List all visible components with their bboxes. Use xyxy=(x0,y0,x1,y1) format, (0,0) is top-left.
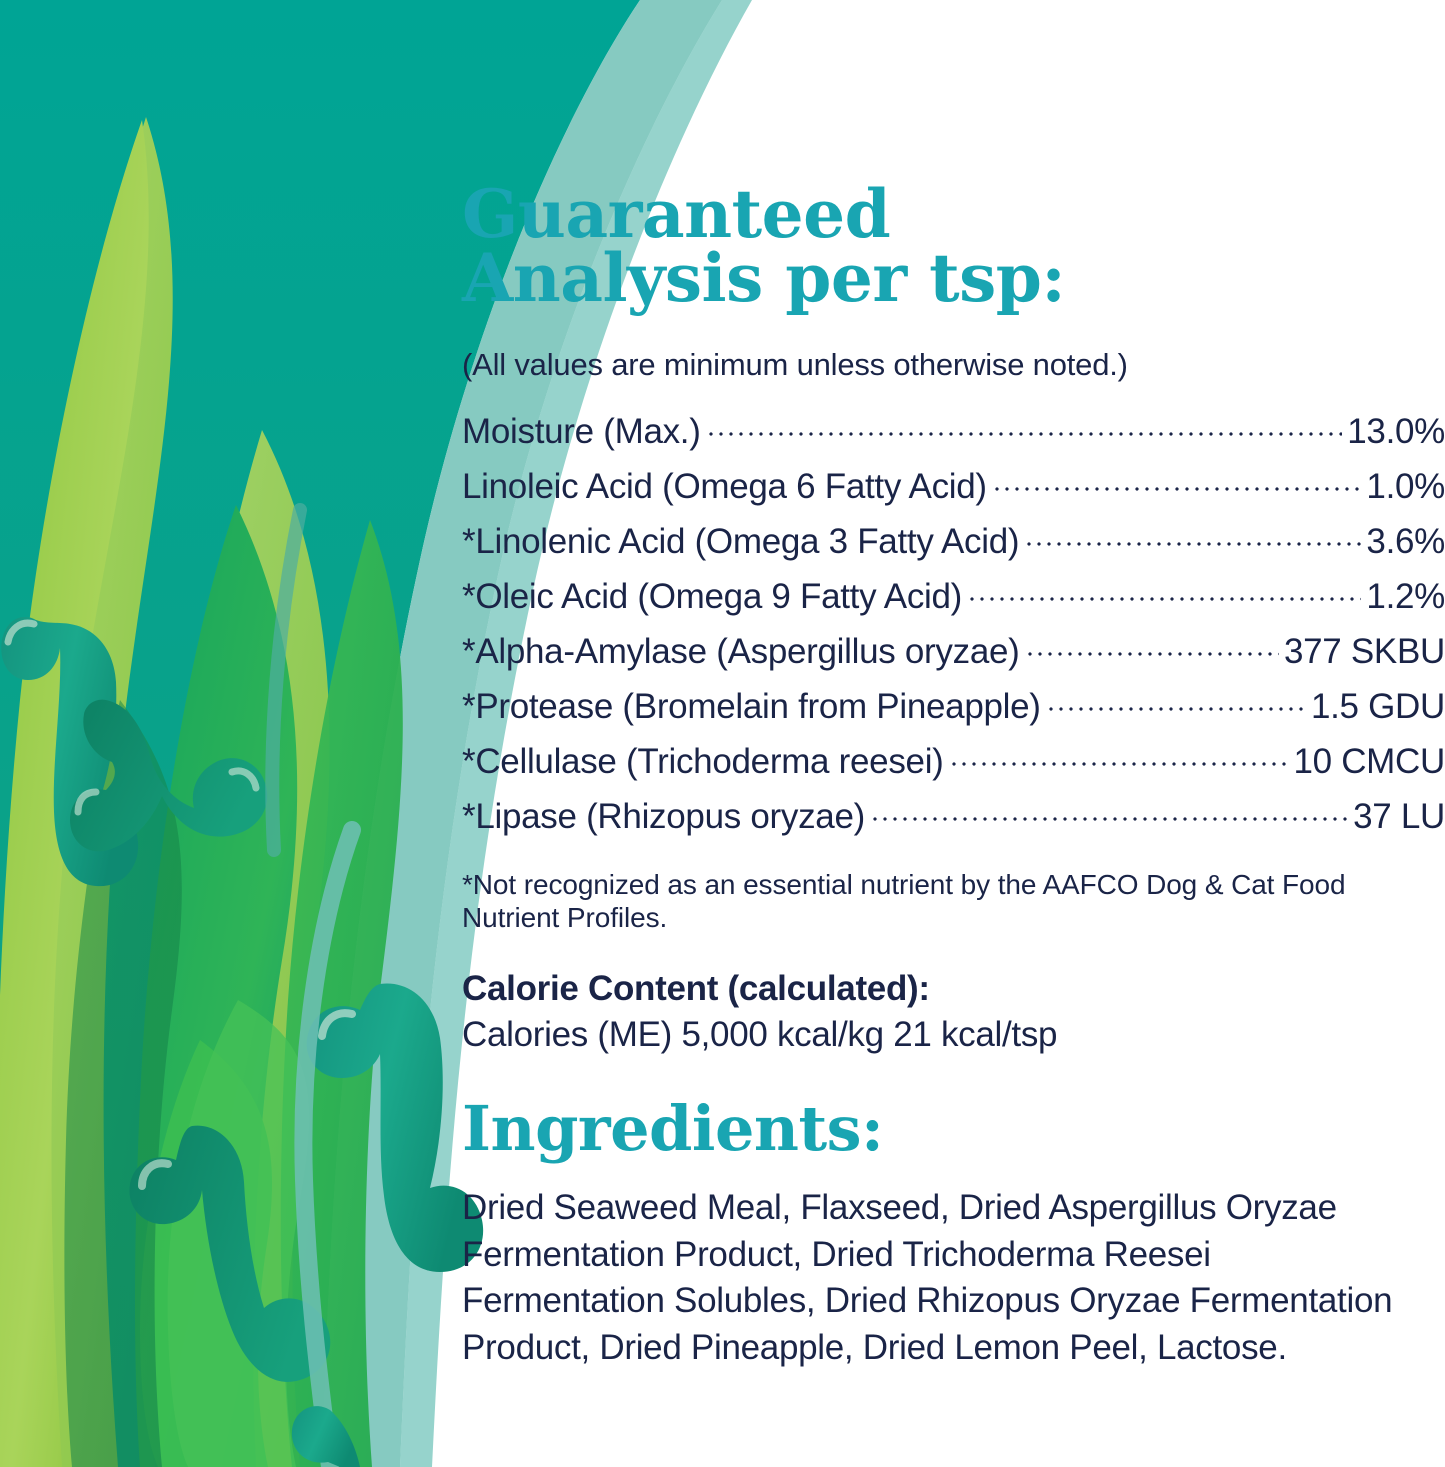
dotted-leader xyxy=(706,408,1343,443)
dotted-leader xyxy=(1024,518,1361,553)
dotted-leader xyxy=(1046,683,1306,718)
nutrient-value: 10 CMCU xyxy=(1293,742,1445,782)
label-content: Guaranteed Analysis per tsp: (All values… xyxy=(462,0,1445,1467)
aafco-footnote: *Not recognized as an essential nutrient… xyxy=(462,868,1414,934)
nutrient-value: 1.5 GDU xyxy=(1311,687,1445,727)
page-title: Guaranteed Analysis per tsp: xyxy=(462,182,1445,310)
seaweed-frond-bottom xyxy=(129,1126,330,1382)
nutrient-value: 3.6% xyxy=(1366,522,1445,562)
calorie-content-value: Calories (ME) 5,000 kcal/kg 21 kcal/tsp xyxy=(462,1013,1445,1057)
guaranteed-analysis-title-block: Guaranteed Analysis per tsp: xyxy=(462,182,1445,310)
ingredients-heading: Ingredients: xyxy=(462,1098,883,1160)
nutrient-label: *Lipase (Rhizopus oryzae) xyxy=(462,797,865,837)
seaweed-frond-upper xyxy=(1,617,138,886)
dotted-leader xyxy=(870,793,1348,828)
nutrient-label: *Protease (Bromelain from Pineapple) xyxy=(462,687,1041,727)
nutrient-value: 1.2% xyxy=(1366,577,1445,617)
nutrient-label: *Oleic Acid (Omega 9 Fatty Acid) xyxy=(462,577,962,617)
nutrient-row: *Cellulase (Trichoderma reesei) 10 CMCU xyxy=(462,738,1445,793)
nutrient-row: *Protease (Bromelain from Pineapple) 1.5… xyxy=(462,683,1445,738)
dotted-leader xyxy=(1025,628,1279,663)
nutrient-label: *Alpha-Amylase (Aspergillus oryzae) xyxy=(462,632,1020,672)
nutrient-row: *Alpha-Amylase (Aspergillus oryzae) 377 … xyxy=(462,628,1445,683)
nutrient-label: Moisture (Max.) xyxy=(462,412,701,452)
nutrient-label: *Linolenic Acid (Omega 3 Fatty Acid) xyxy=(462,522,1019,562)
nutrient-row: Moisture (Max.) 13.0% xyxy=(462,408,1445,463)
seaweed-frond-mid xyxy=(70,700,267,852)
guaranteed-analysis-list: Moisture (Max.) 13.0% Linoleic Acid (Ome… xyxy=(462,408,1445,848)
seaweed-frond-tip xyxy=(292,1406,360,1467)
nutrient-value: 377 SKBU xyxy=(1284,632,1445,672)
nutrient-label: *Cellulase (Trichoderma reesei) xyxy=(462,742,944,782)
nutrient-label: Linoleic Acid (Omega 6 Fatty Acid) xyxy=(462,467,987,507)
nutrient-row: *Linolenic Acid (Omega 3 Fatty Acid) 3.6… xyxy=(462,518,1445,573)
seaweed-frond-lower xyxy=(307,983,483,1272)
ingredients-list: Dried Seaweed Meal, Flaxseed, Dried Aspe… xyxy=(462,1185,1422,1371)
nutrient-value: 13.0% xyxy=(1347,412,1445,452)
calorie-content-heading: Calorie Content (calculated): xyxy=(462,968,1445,1010)
nutrient-row: Linoleic Acid (Omega 6 Fatty Acid) 1.0% xyxy=(462,463,1445,518)
dotted-leader xyxy=(992,463,1362,498)
product-label-panel: Guaranteed Analysis per tsp: (All values… xyxy=(0,0,1445,1467)
dotted-leader xyxy=(967,573,1361,608)
nutrient-value: 1.0% xyxy=(1366,467,1445,507)
calorie-content-block: Calorie Content (calculated): Calories (… xyxy=(462,968,1445,1057)
nutrient-row: *Lipase (Rhizopus oryzae) 37 LU xyxy=(462,793,1445,848)
nutrient-row: *Oleic Acid (Omega 9 Fatty Acid) 1.2% xyxy=(462,573,1445,628)
dotted-leader xyxy=(949,738,1289,773)
subtitle-note: (All values are minimum unless otherwise… xyxy=(462,348,1445,382)
nutrient-value: 37 LU xyxy=(1353,797,1445,837)
